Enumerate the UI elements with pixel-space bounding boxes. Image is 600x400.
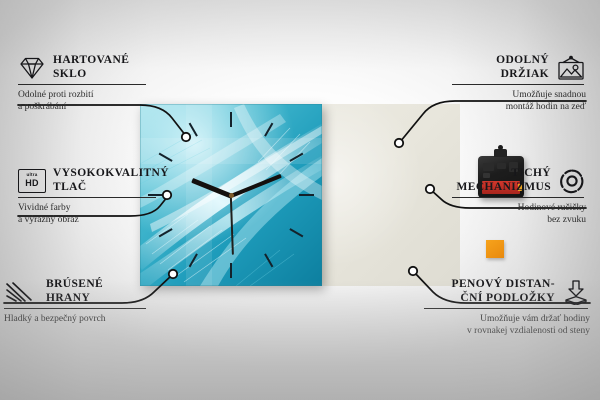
feature-rule — [424, 308, 588, 309]
feature-rule — [18, 84, 146, 85]
clock-tick — [230, 263, 232, 278]
minute-hand — [230, 174, 282, 198]
clock-tick — [159, 153, 173, 162]
feature-header: TICHÝ MECHANIZMUS — [452, 167, 586, 194]
clock-tick — [289, 153, 303, 162]
feature-header: BRÚSENÉ HRANY — [4, 278, 148, 305]
feature-title: VYSOKOKVALITNÝ TLAČ — [53, 167, 169, 194]
feature-title: TICHÝ MECHANIZMUS — [452, 167, 551, 194]
ultra-hd-icon: ultra HD — [18, 169, 46, 193]
clock-tick — [230, 112, 232, 127]
clock-face — [140, 104, 322, 286]
gear-icon — [558, 168, 586, 194]
feature-subtitle: Vividné farby a výrazný obraz — [18, 202, 158, 226]
second-hand — [230, 195, 234, 255]
clock-tick — [189, 123, 198, 137]
feature-header: ODOLNÝ DRŽIAK — [452, 54, 586, 81]
feature-subtitle: Umožňuje vám držať hodiny v rovnakej vzd… — [424, 313, 590, 337]
feature-subtitle: Hodinové ručičky bez zvuku — [452, 202, 586, 226]
diamond-icon — [18, 55, 46, 81]
feature-ground-edges: BRÚSENÉ HRANY Hladký a bezpečný povrch — [4, 278, 148, 325]
feature-title: HARTOVANÉ SKLO — [53, 54, 129, 81]
clock-tick — [264, 253, 273, 267]
feature-title: ODOLNÝ DRŽIAK — [452, 54, 549, 81]
feature-tempered-glass: HARTOVANÉ SKLO Odolné proti rozbití a po… — [18, 54, 148, 113]
feature-header: PENOVÝ DISTAN- ČNÍ PODLOŽKY — [424, 278, 590, 305]
feature-subtitle: Hladký a bezpečný povrch — [4, 313, 148, 325]
feature-high-quality-print: ultra HD VYSOKOKVALITNÝ TLAČ Vividné far… — [18, 167, 158, 226]
foam-spacer-pad — [486, 240, 504, 258]
clock-tick — [264, 123, 273, 137]
feature-foam-spacers: PENOVÝ DISTAN- ČNÍ PODLOŽKY Umožňuje vám… — [424, 278, 590, 337]
clock-tick — [289, 228, 303, 237]
feature-title: BRÚSENÉ HRANY — [46, 278, 103, 305]
picture-hanger-icon — [556, 55, 586, 81]
clock-tick — [189, 253, 198, 267]
feature-silent-mechanism: TICHÝ MECHANIZMUS Hodinové ručičky bez z… — [452, 167, 586, 226]
clock-tick — [299, 194, 314, 196]
wall-clock — [140, 104, 322, 286]
feature-rule — [18, 197, 156, 198]
feature-rule — [452, 84, 584, 85]
feature-rule — [452, 197, 584, 198]
feature-title: PENOVÝ DISTAN- ČNÍ PODLOŽKY — [424, 278, 555, 305]
feature-header: ultra HD VYSOKOKVALITNÝ TLAČ — [18, 167, 158, 194]
clock-hub — [229, 193, 234, 198]
ground-edges-icon — [4, 280, 34, 304]
product-photo — [140, 104, 460, 286]
hour-hand — [191, 178, 232, 198]
feature-rule — [4, 308, 146, 309]
feature-durable-hanger: ODOLNÝ DRŽIAK Umožňuje snadnou montáž ho… — [452, 54, 586, 113]
press-down-icon — [562, 279, 590, 305]
infographic-canvas: HARTOVANÉ SKLO Odolné proti rozbití a po… — [0, 0, 600, 400]
feature-header: HARTOVANÉ SKLO — [18, 54, 148, 81]
feature-subtitle: Umožňuje snadnou montáž hodin na zeď — [452, 89, 586, 113]
clock-tick — [159, 228, 173, 237]
mechanism-shaft — [494, 149, 507, 157]
feature-subtitle: Odolné proti rozbití a poškrábání — [18, 89, 148, 113]
